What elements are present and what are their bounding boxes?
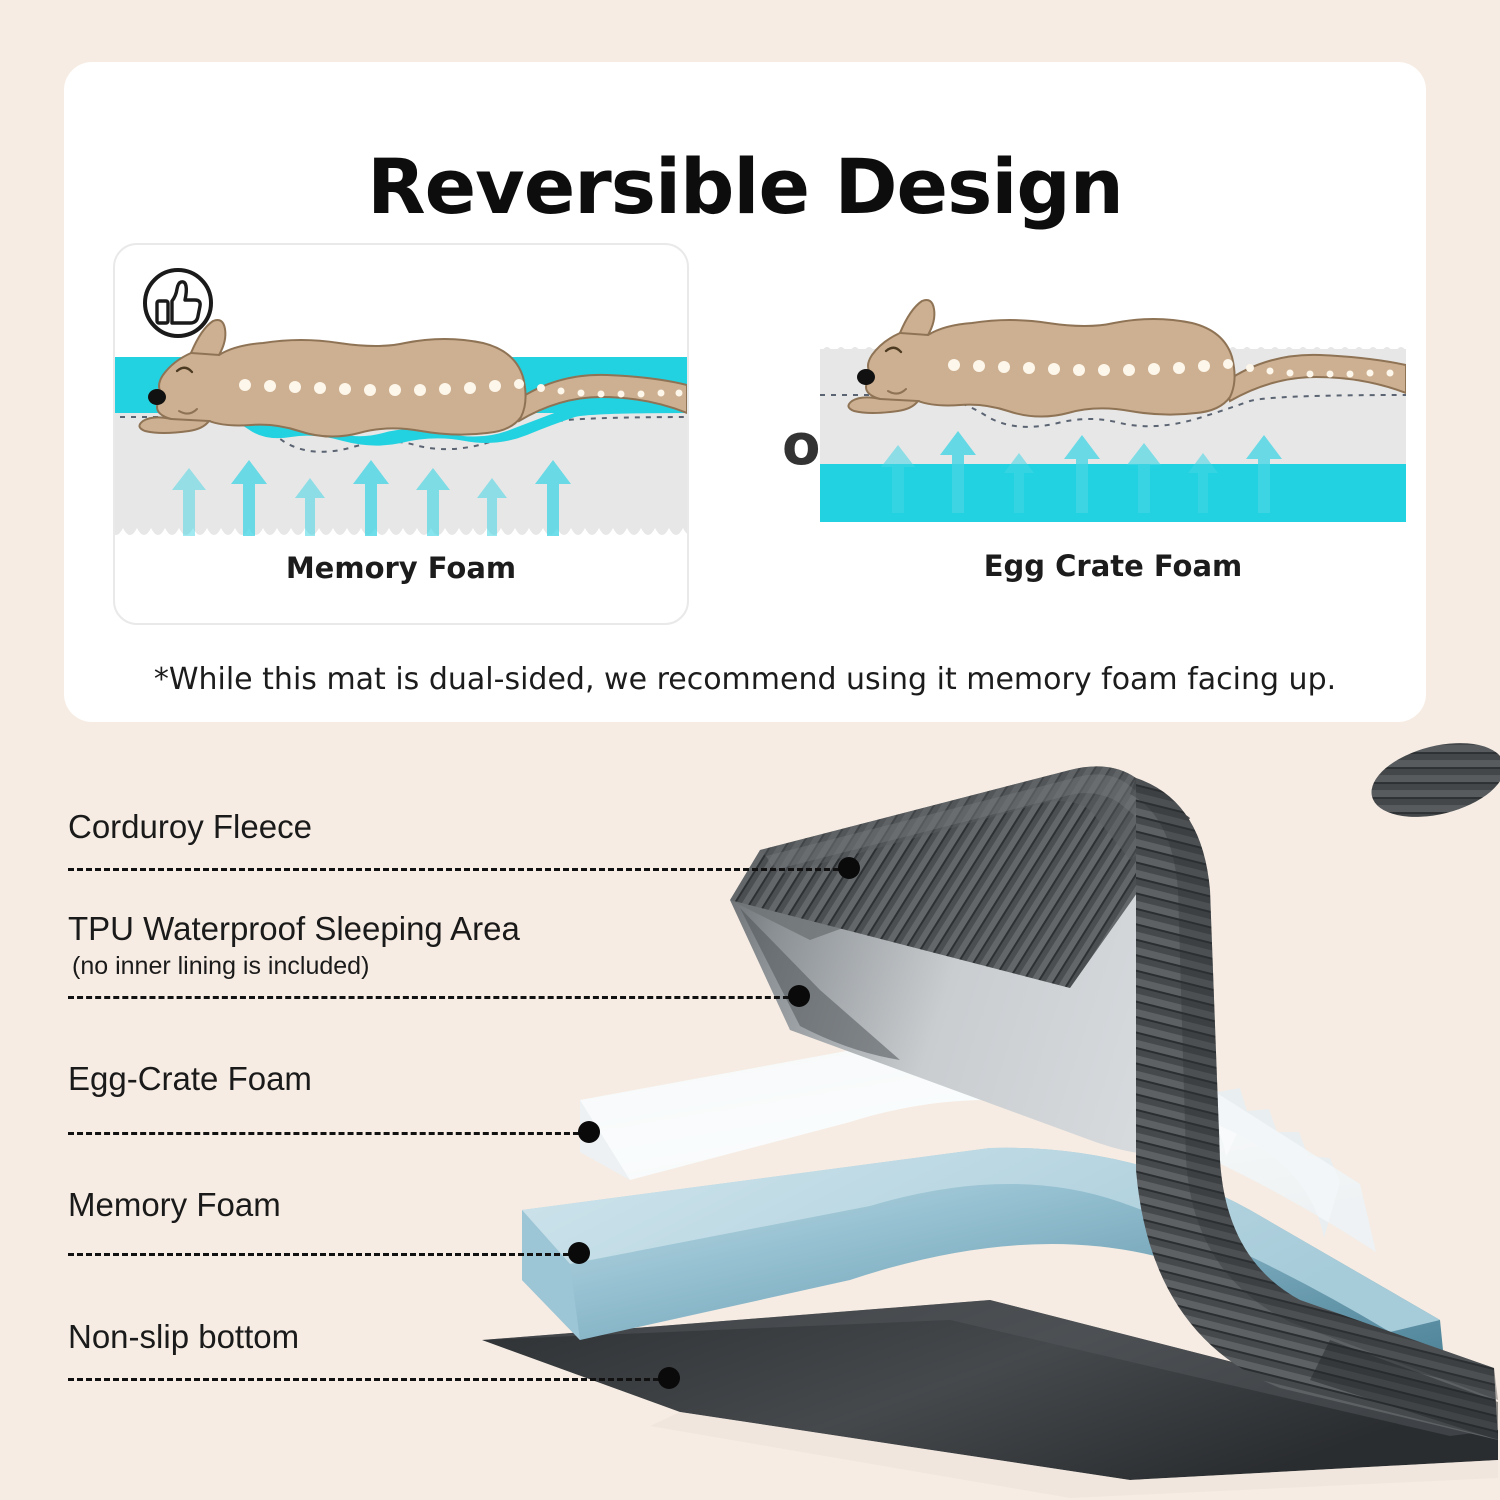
callout-dot-egg-crate-foam [578,1121,600,1143]
panel-caption-memory-foam: Memory Foam [115,551,687,585]
layered-mat-product-image [430,740,1500,1500]
callout-dot-corduroy-fleece [838,857,860,879]
footnote-text: *While this mat is dual-sided, we recomm… [64,662,1426,697]
callout-leader-egg-crate-foam [68,1132,588,1135]
reversible-design-card: Reversible Design [64,62,1426,722]
page-title: Reversible Design [64,142,1426,231]
thumbs-up-icon [140,265,216,341]
callout-label-egg-crate-foam: Egg-Crate Foam [68,1060,312,1098]
panel-memory-foam: Memory Foam [113,243,689,625]
callout-leader-tpu-waterproof [68,996,798,999]
panel-caption-egg-crate-foam: Egg Crate Foam [820,549,1406,583]
callout-leader-memory-foam [68,1253,578,1256]
callout-label-corduroy-fleece: Corduroy Fleece [68,808,312,846]
callout-label-non-slip-bottom: Non-slip bottom [68,1318,299,1356]
callout-label-memory-foam: Memory Foam [68,1186,281,1224]
callout-label-tpu-waterproof: TPU Waterproof Sleeping Area [68,910,520,948]
callout-leader-corduroy-fleece [68,868,848,871]
panel-egg-crate-foam: Egg Crate Foam [820,243,1406,621]
callout-dot-memory-foam [568,1242,590,1264]
callout-sublabel-tpu-waterproof: (no inner lining is included) [72,952,369,981]
callout-dot-non-slip-bottom [658,1367,680,1389]
callout-leader-non-slip-bottom [68,1378,668,1381]
callout-dot-tpu-waterproof [788,985,810,1007]
